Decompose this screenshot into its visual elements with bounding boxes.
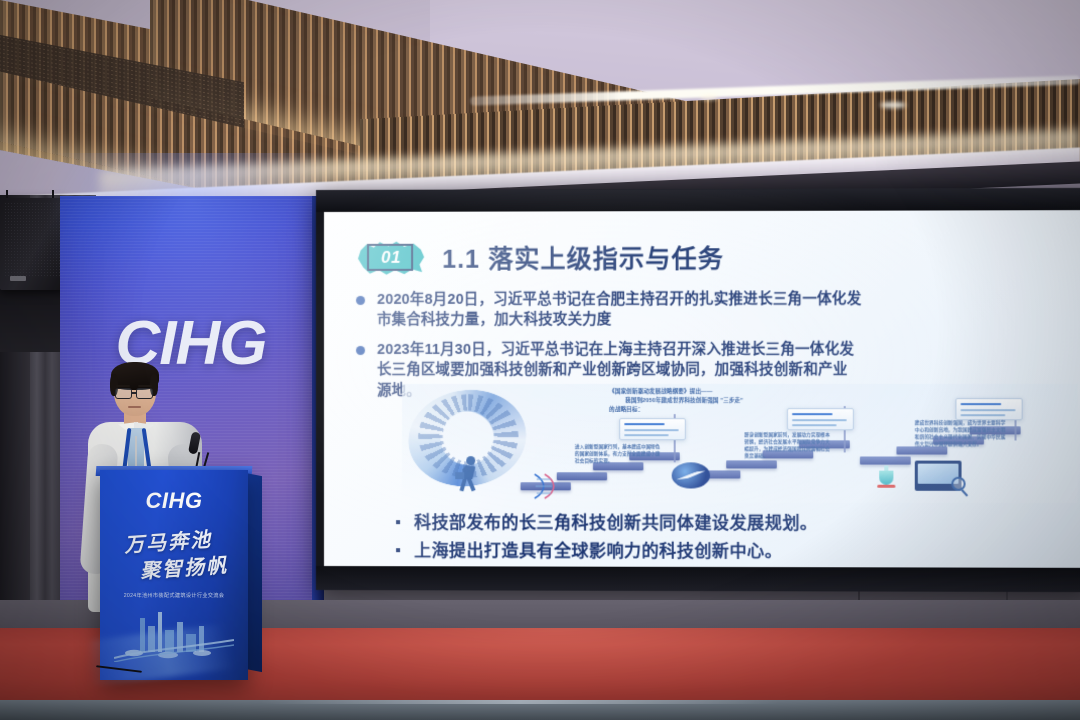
magnifier-icon [951,477,965,491]
globe-icon [672,462,710,488]
screen-bezel-bottom [316,566,1080,592]
walking-person-icon [454,456,484,490]
conference-photo: CIHG 01 1.1 落实上级指示与任务 2020年8月20日，习近平总书记在… [0,0,1080,720]
flask-body [879,471,893,485]
infographic-heading-1: 《国家创新驱动发展战略纲要》提出—— [609,388,712,397]
stair-step [726,460,777,468]
bullet-item: 2020年8月20日，习近平总书记在合肥主持召开的扎实推进长三角一体化发 市集合… [356,289,1080,331]
slide-infographic: 《国家创新驱动发展战略纲要》提出—— 我国到2050年建成世界科技创新强国 "三… [402,384,1078,503]
ceiling-spotlight-2 [700,95,718,100]
presentation-slide: 01 1.1 落实上级指示与任务 2020年8月20日，习近平总书记在合肥主持召… [324,210,1080,568]
card-bar [792,424,837,426]
glasses-lens-left [115,388,132,399]
step-caption-1: 进入创新型国家行列，基本建成中国特色的国家创新体系，有力支撑全面建成小康社会目标… [575,444,662,465]
bullet-square-icon [396,548,400,552]
bullet-text: 科技部发布的长三角科技创新共同体建设发展规划。 [414,510,817,536]
bullet-square-icon [396,520,400,524]
card-bar [624,423,664,425]
badge-number-label: 01 [381,248,401,268]
podium-event-subtitle: 2024年池州市装配式建筑设计行业交流会 [100,592,248,599]
card-bar [624,434,668,436]
screen-bezel-top [316,188,1080,212]
step-caption-2: 跻身创新型国家前列，发展动力实现根本转换，经济社会发展水平和国际竞争力大幅提升，… [744,432,831,460]
walker-briefcase [455,472,464,479]
podium: CIHG 万马奔池 聚智扬帆 2024年池州市装配式建筑设计行业交流会 [100,470,248,680]
presenter-eyebrow [116,385,130,387]
podium-brand-logo: CIHG [100,488,248,514]
bullet-item: 上海提出打造具有全球影响力的科技创新中心。 [396,538,817,564]
bullet-dot-icon [356,346,365,355]
walker-leg [467,478,476,492]
bullet-text: 2020年8月20日，习近平总书记在合肥主持召开的扎实推进长三角一体化发 市集合… [377,289,861,331]
card-bar [792,413,833,415]
speaker-badge [10,276,26,281]
stair-step [860,456,911,464]
card-bar [961,409,1016,411]
bullet-text: 上海提出打造具有全球影响力的科技创新中心。 [414,538,782,564]
bullet-item: 科技部发布的长三角科技创新共同体建设发展规划。 [396,510,817,536]
step-label-card [787,408,854,430]
section-number-badge: 01 [358,241,424,275]
card-bar [792,419,847,421]
slide-title-row: 01 1.1 落实上级指示与任务 [358,239,724,276]
step-label-card [955,398,1022,420]
card-bar [961,414,1006,416]
walker-leg [460,478,467,492]
stage-edge-highlight [260,700,780,704]
walker-head [466,456,475,465]
card-bar [961,403,1002,405]
flask-base [877,485,895,488]
globe-streak [676,469,706,482]
glasses-lens-right [136,388,153,399]
slide-title: 1.1 落实上级指示与任务 [442,239,724,276]
presenter-eyebrow [138,385,152,387]
step-label-card [619,418,686,440]
bullet-dot-icon [356,296,365,305]
slide-bottom-bullets: 科技部发布的长三角科技创新共同体建设发展规划。 上海提出打造具有全球影响力的科技… [396,510,817,568]
step-caption-3: 建成世界科技创新强国，成为世界主要科学中心和创新高地，为我国建成富强民主文明和谐… [915,420,1009,448]
card-bar [624,429,678,431]
flask-icon [874,465,898,489]
ceiling-spotlight [880,102,906,108]
dna-helix-icon [531,472,565,500]
projection-screen: 01 1.1 落实上级指示与任务 2020年8月20日，习近平总书记在合肥主持召… [316,188,1080,592]
glasses-bridge [132,392,137,394]
stage-floor-sheen [180,628,940,698]
